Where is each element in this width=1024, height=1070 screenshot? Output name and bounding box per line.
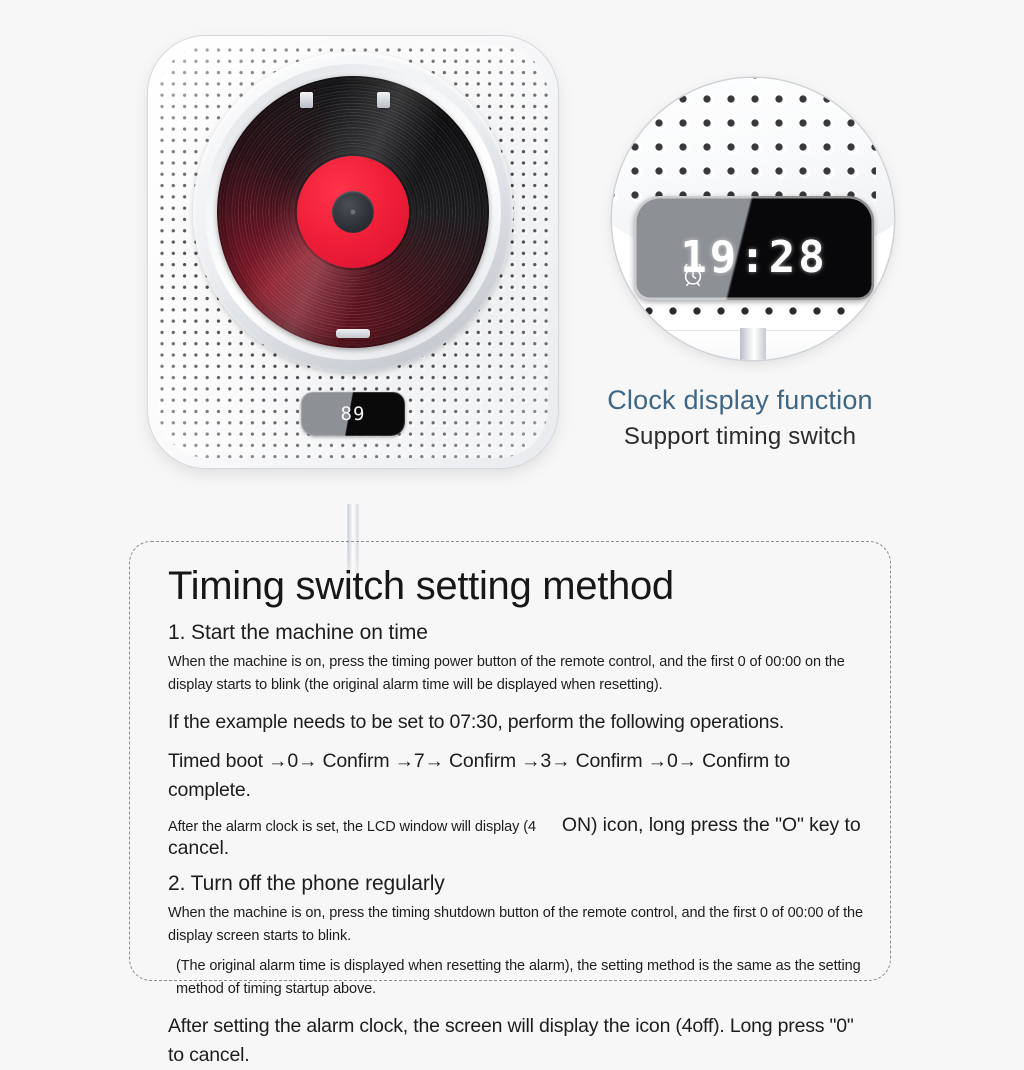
caption-clock-display-function: Clock display function xyxy=(0,385,1024,416)
callout-lower-perforations xyxy=(618,304,890,330)
alarm-clock-icon xyxy=(680,262,706,288)
infographic-canvas: 89 19:28 xyxy=(0,0,1024,1024)
timed-boot-sequence: Timed boot →0→ Confirm →7→ Confirm →3→ C… xyxy=(168,747,868,806)
step-2-body: When the machine is on, press the timing… xyxy=(168,902,868,949)
caption-support-timing-switch: Support timing switch xyxy=(0,423,1024,451)
lid-clip-left xyxy=(300,92,313,108)
callout-grille-perforations xyxy=(612,78,876,212)
step-2-heading: 2. Turn off the phone regularly xyxy=(168,872,868,896)
lid-clip-right xyxy=(377,92,390,108)
panel-title: Timing switch setting method xyxy=(168,564,868,609)
disc-spindle-hub xyxy=(332,191,374,233)
callout-power-cable xyxy=(740,328,766,360)
lcd-icon-note-small: After the alarm clock is set, the LCD wi… xyxy=(168,819,536,835)
step-2-note: (The original alarm time is displayed wh… xyxy=(176,955,868,1002)
lid-tab xyxy=(336,329,370,338)
vinyl-record-disc xyxy=(217,76,489,348)
callout-lcd-display: 19:28 xyxy=(634,196,874,300)
disc-recess-ring xyxy=(193,52,513,372)
clock-display-callout: 19:28 xyxy=(612,78,894,360)
example-line: If the example needs to be set to 07:30,… xyxy=(168,708,868,737)
lcd-icon-note: After the alarm clock is set, the LCD wi… xyxy=(168,814,868,860)
instruction-panel: Timing switch setting method 1. Start th… xyxy=(129,541,891,981)
closing-line: After setting the alarm clock, the scree… xyxy=(168,1012,868,1070)
step-1-heading: 1. Start the machine on time xyxy=(168,621,868,645)
step-1-body: When the machine is on, press the timing… xyxy=(168,651,868,698)
